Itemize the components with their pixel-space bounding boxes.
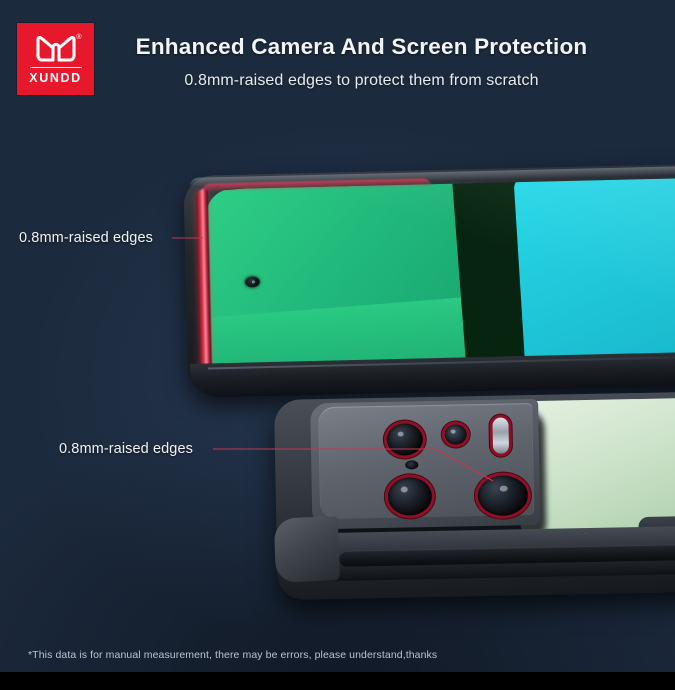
disclaimer-text: *This data is for manual measurement, th…	[28, 649, 437, 661]
page-title: Enhanced Camera And Screen Protection	[0, 34, 675, 60]
banner-header: ® XUNDD Enhanced Camera And Screen Prote…	[0, 0, 675, 112]
product-feature-banner: ® XUNDD Enhanced Camera And Screen Prote…	[0, 0, 675, 690]
phone-screen	[206, 178, 675, 380]
camera-lens-icon	[388, 477, 433, 516]
annotation-label-front: 0.8mm-raised edges	[19, 230, 153, 246]
annotation-label-camera: 0.8mm-raised edges	[59, 441, 193, 457]
camera-flash-icon	[492, 418, 509, 454]
camera-lens-icon	[386, 423, 423, 456]
phone-front-with-case	[183, 164, 675, 398]
logo-divider	[30, 67, 82, 68]
camera-island-rim	[318, 403, 534, 519]
bottom-black-bar	[0, 672, 675, 690]
page-subtitle: 0.8mm-raised edges to protect them from …	[0, 72, 675, 90]
case-corner-bumper	[274, 516, 340, 582]
phone-back-with-case	[274, 392, 675, 600]
camera-sensor-icon	[405, 460, 418, 469]
wallpaper-cyan-shape	[514, 178, 675, 380]
camera-lens-icon	[445, 424, 467, 444]
camera-lens-icon	[477, 475, 528, 516]
